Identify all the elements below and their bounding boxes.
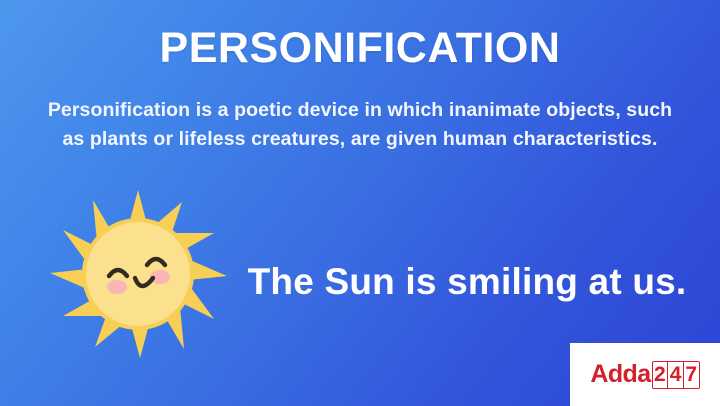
sun-face	[86, 222, 190, 326]
page-title: PERSONIFICATION	[0, 26, 720, 71]
logo-mark: Adda 2 4 7	[590, 361, 699, 389]
logo-number-box: 2 4 7	[652, 361, 700, 389]
logo-digit-2: 4	[668, 362, 684, 388]
brand-logo: Adda 2 4 7	[570, 343, 720, 406]
definition-text: Personification is a poetic device in wh…	[36, 96, 684, 154]
logo-digit-1: 2	[653, 362, 669, 388]
logo-wordmark: Adda	[590, 362, 650, 387]
smiling-sun-illustration	[47, 188, 229, 360]
personification-poster: PERSONIFICATION Personification is a poe…	[0, 0, 720, 406]
logo-digit-3: 7	[684, 362, 699, 388]
example-sentence: The Sun is smiling at us.	[236, 262, 698, 303]
